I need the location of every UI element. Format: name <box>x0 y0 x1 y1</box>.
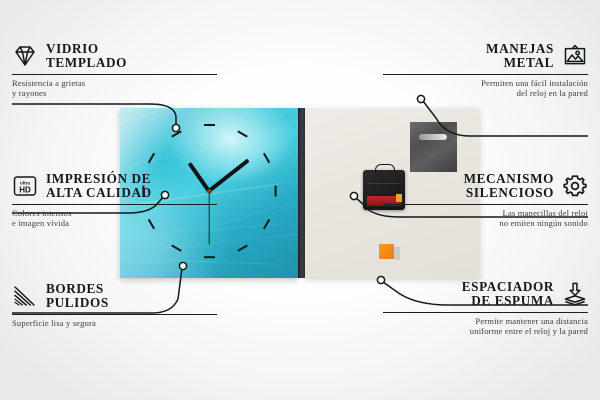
feature-vidrio-templado[interactable]: VIDRIO TEMPLADO Resistencia a grietas y … <box>12 42 217 99</box>
feature-title-line2: PULIDOS <box>46 296 217 310</box>
feature-title-line2: ALTA CALIDAD <box>46 186 217 200</box>
feature-espaciador-espuma[interactable]: ESPACIADOR DE ESPUMA Permite mantener un… <box>383 280 588 337</box>
diamond-icon <box>12 43 38 69</box>
feature-title-line1: MANEJAS <box>383 42 554 56</box>
feather-strand <box>216 108 291 113</box>
feather-strand <box>120 135 271 169</box>
feature-title-line1: ESPACIADOR <box>383 280 554 294</box>
metal-hanger-plate <box>410 122 457 172</box>
feature-title-line1: IMPRESIÓN DE <box>46 172 217 186</box>
feature-subtitle-line1: Resistencia a grietas <box>12 78 217 88</box>
feature-subtitle-line1: Superficie lisa y segura <box>12 318 217 328</box>
press-down-layers-icon <box>562 281 588 307</box>
gear-icon <box>562 173 588 199</box>
divider <box>383 204 588 205</box>
divider <box>12 314 217 315</box>
feature-title-line1: VIDRIO <box>46 42 217 56</box>
divider <box>383 312 588 313</box>
infographic-canvas: VIDRIO TEMPLADO Resistencia a grietas y … <box>0 0 600 400</box>
feather-strand <box>120 108 272 127</box>
feature-bordes-pulidos[interactable]: BORDES PULIDOS Superficie lisa y segura <box>12 282 217 328</box>
feather-strand <box>204 195 298 229</box>
clock-tick <box>171 130 182 137</box>
clock-tick <box>204 124 215 126</box>
clock-tick <box>148 153 155 164</box>
polished-edge-icon <box>12 283 38 309</box>
feature-title-line1: MECANISMO <box>383 172 554 186</box>
feature-subtitle-line1: Las manecillas del reloj <box>383 208 588 218</box>
ultra-hd-icon: ultra HD <box>12 173 38 199</box>
divider <box>383 74 588 75</box>
feather-strand <box>160 233 298 249</box>
feature-subtitle-line2: e imagen vívida <box>12 218 217 228</box>
feature-subtitle-line1: Permite mantener una distancia <box>383 316 588 326</box>
feature-subtitle-line1: Permiten una fácil instalación <box>383 78 588 88</box>
feature-title-line1: BORDES <box>46 282 217 296</box>
feature-subtitle-line2: y rayones <box>12 88 217 98</box>
feather-strand <box>240 108 291 125</box>
feature-title-line2: TEMPLADO <box>46 56 217 70</box>
clock-tick <box>237 130 248 137</box>
feature-title-line2: DE ESPUMA <box>383 294 554 308</box>
hanger-slot <box>419 134 447 140</box>
feature-impresion-alta-calidad[interactable]: ultra HD IMPRESIÓN DE ALTA CALIDAD Color… <box>12 172 217 229</box>
feature-subtitle-line2: uniforme entre el reloj y la pared <box>383 326 588 336</box>
clock-side-edge <box>298 108 305 278</box>
feature-subtitle-line1: Colores intensos <box>12 208 217 218</box>
feature-mecanismo-silencioso[interactable]: MECANISMO SILENCIOSO Las manecillas del … <box>383 172 588 229</box>
feature-subtitle-line2: del reloj en la pared <box>383 88 588 98</box>
feature-manejas-metal[interactable]: MANEJAS METAL Permiten una fácil instala… <box>383 42 588 99</box>
picture-frame-hanger-icon <box>562 43 588 69</box>
clock-tick <box>237 244 248 251</box>
divider <box>12 204 217 205</box>
clock-tick <box>262 153 269 164</box>
divider <box>12 74 217 75</box>
feature-title-line2: METAL <box>383 56 554 70</box>
feature-subtitle-line2: no emiten ningún sonido <box>383 218 588 228</box>
feature-title-line2: SILENCIOSO <box>383 186 554 200</box>
feather-strand <box>120 258 276 265</box>
foam-spacer-shadow <box>394 247 400 260</box>
clock-tick <box>274 185 276 196</box>
foam-spacer <box>379 244 394 259</box>
svg-text:HD: HD <box>19 186 31 195</box>
clock-tick <box>204 256 215 258</box>
